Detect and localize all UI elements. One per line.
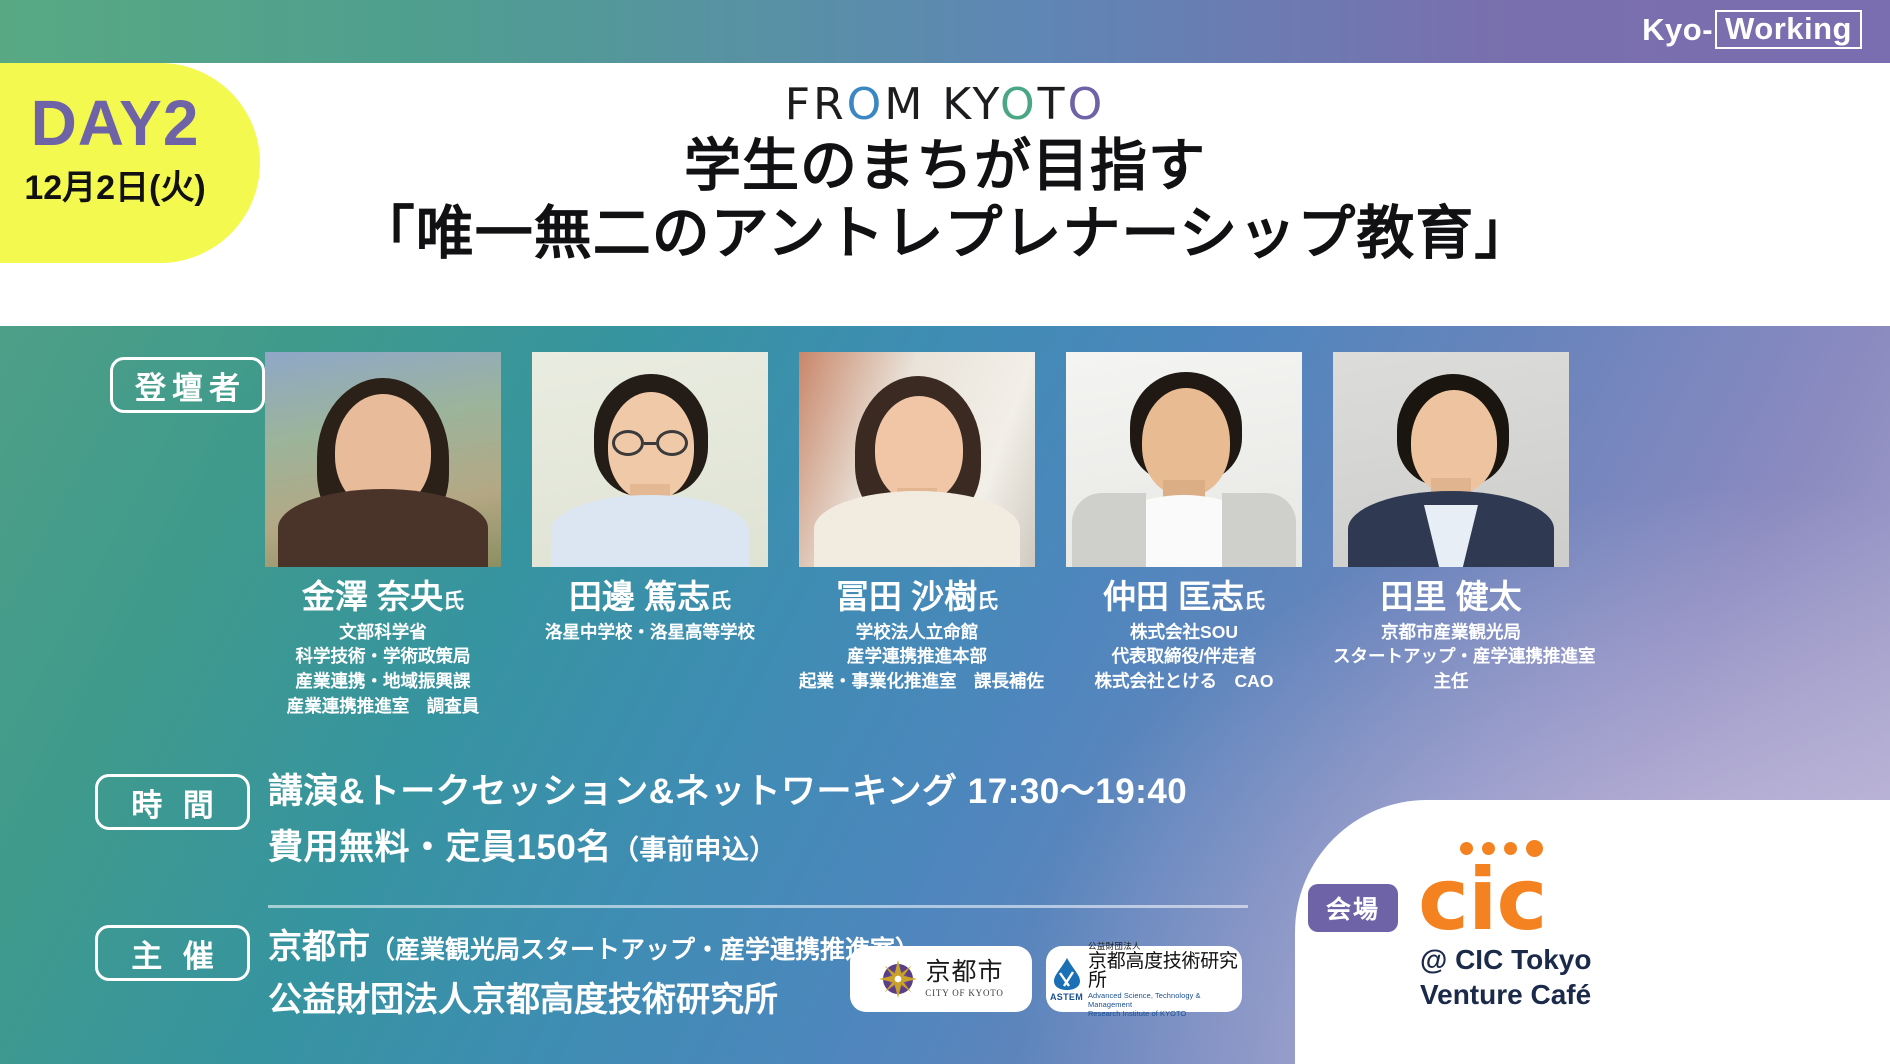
time-line-1: 講演&トークセッション&ネットワーキング 17:30〜19:40 <box>268 768 1187 815</box>
host-primary: 京都市 <box>268 928 370 966</box>
venue-line-2: Venture Café <box>1420 977 1591 1012</box>
venue-address: @ CIC Tokyo Venture Café <box>1420 942 1591 1012</box>
avatar <box>532 352 768 567</box>
avatar <box>265 352 501 567</box>
speaker-name-suffix: 氏 <box>977 590 998 613</box>
time-info: 講演&トークセッション&ネットワーキング 17:30〜19:40 費用無料・定員… <box>268 768 1187 872</box>
venue-line-1: @ CIC Tokyo <box>1420 942 1591 977</box>
avatar <box>1333 352 1569 567</box>
avatar <box>799 352 1035 567</box>
speaker-affiliation: 洛星中学校・洛星高等学校 <box>532 620 768 645</box>
speaker-card: 冨田 沙樹氏 学校法人立命館 産学連携推進本部 起業・事業化推進室 課長補佐 <box>799 352 1035 672</box>
host-label: 主 催 <box>95 925 250 981</box>
speaker-name-suffix: 氏 <box>710 590 731 613</box>
affiliation-line: 産業連携・地域振興課 <box>265 669 501 694</box>
kyo-working-boxed: Working <box>1715 10 1862 49</box>
from-kyoto-part-fr: FR <box>785 79 847 130</box>
speaker-card: 田里 健太 京都市産業観光局 スタートアップ・産学連携推進室 主任 <box>1333 352 1569 672</box>
host-department-note: （産業観光局スタートアップ・産学連携推進室） <box>370 936 920 964</box>
page-title: 学生のまちが目指す 「唯一無二のアントレプレナーシップ教育」 <box>0 133 1890 268</box>
speaker-name: 田邊 篤志氏 <box>532 580 768 615</box>
time-label: 時 間 <box>95 774 250 830</box>
title-band: FROM KYOTO 学生のまちが目指す 「唯一無二のアントレプレナーシップ教育… <box>0 63 1890 326</box>
from-kyoto-part-t: T <box>1038 79 1068 130</box>
from-kyoto-o-purple: O <box>1068 79 1106 130</box>
cic-logo: cic <box>1418 842 1546 940</box>
speaker-name-suffix: 氏 <box>1244 590 1265 613</box>
affiliation-line: 科学技術・学術政策局 <box>265 644 501 669</box>
affiliation-line: 学校法人立命館 <box>799 620 1035 645</box>
title-line-2: 「唯一無二のアントレプレナーシップ教育」 <box>0 200 1890 268</box>
affiliation-line: スタートアップ・産学連携推進室 <box>1333 644 1569 669</box>
time-line-2: 費用無料・定員150名（事前申込） <box>268 824 1187 871</box>
speaker-card: 金澤 奈央氏 文部科学省 科学技術・学術政策局 産業連携・地域振興課 産業連携推… <box>265 352 501 672</box>
host-line-2: 公益財団法人京都高度技術研究所 <box>268 978 920 1022</box>
from-kyoto-o-green: O <box>1000 79 1038 130</box>
speaker-name: 仲田 匡志氏 <box>1066 580 1302 615</box>
speaker-affiliation: 京都市産業観光局 スタートアップ・産学連携推進室 主任 <box>1333 620 1569 695</box>
astem-mark-text: ASTEM <box>1050 992 1083 1002</box>
astem-name-jp: 京都高度技術研究所 <box>1088 952 1238 992</box>
astem-name-en-line1: Advanced Science, Technology & Managemen… <box>1088 991 1238 1009</box>
kyoto-city-logo: 京都市 CITY OF KYOTO <box>850 946 1032 1012</box>
speaker-card: 田邊 篤志氏 洛星中学校・洛星高等学校 <box>532 352 768 672</box>
affiliation-line: 起業・事業化推進室 課長補佐 <box>799 669 1035 694</box>
from-kyoto-o-blue: O <box>847 79 885 130</box>
speaker-name: 冨田 沙樹氏 <box>799 580 1035 615</box>
speaker-affiliation: 文部科学省 科学技術・学術政策局 産業連携・地域振興課 産業連携推進室 調査員 <box>265 620 501 719</box>
affiliation-line: 文部科学省 <box>265 620 501 645</box>
kyo-working-logo: Kyo- Working <box>1642 10 1862 49</box>
host-line-1: 京都市（産業観光局スタートアップ・産学連携推進室） <box>268 925 920 969</box>
section-divider <box>268 905 1248 908</box>
affiliation-line: 株式会社とける CAO <box>1066 669 1302 694</box>
venue-label: 会場 <box>1308 884 1398 932</box>
top-brand-bar <box>0 0 1890 63</box>
day-date: 12月2日(火) <box>0 171 230 205</box>
affiliation-line: 代表取締役/伴走者 <box>1066 644 1302 669</box>
astem-entity-type: 公益財団法人 <box>1088 940 1238 952</box>
affiliation-line: 主任 <box>1333 669 1569 694</box>
kyoto-city-name-en: CITY OF KYOTO <box>925 988 1003 998</box>
cic-wordmark: cic <box>1418 861 1546 940</box>
speaker-name: 田里 健太 <box>1333 580 1569 615</box>
fee-capacity: 費用無料・定員150名 <box>268 828 612 867</box>
venue-badge <box>1295 800 1890 1064</box>
advance-registration-note: （事前申込） <box>612 835 777 865</box>
host-info: 京都市（産業観光局スタートアップ・産学連携推進室） 公益財団法人京都高度技術研究… <box>268 925 920 1022</box>
astem-droplet-icon <box>1052 957 1082 991</box>
from-kyoto-logo: FROM KYOTO <box>0 79 1890 131</box>
speakers-list: 金澤 奈央氏 文部科学省 科学技術・学術政策局 産業連携・地域振興課 産業連携推… <box>265 352 1855 672</box>
affiliation-line: 産業連携推進室 調査員 <box>265 694 501 719</box>
speaker-affiliation: 学校法人立命館 産学連携推進本部 起業・事業化推進室 課長補佐 <box>799 620 1035 695</box>
title-line-1: 学生のまちが目指す <box>0 133 1890 200</box>
affiliation-line: 産学連携推進本部 <box>799 644 1035 669</box>
speaker-name-suffix: 氏 <box>443 590 464 613</box>
speakers-label: 登壇者 <box>110 357 265 413</box>
affiliation-line: 京都市産業観光局 <box>1333 620 1569 645</box>
speaker-affiliation: 株式会社SOU 代表取締役/伴走者 株式会社とける CAO <box>1066 620 1302 695</box>
affiliation-line: 株式会社SOU <box>1066 620 1302 645</box>
kyo-working-prefix: Kyo- <box>1642 12 1715 48</box>
day-number: DAY2 <box>0 91 230 155</box>
day-badge: DAY2 12月2日(火) <box>0 63 260 263</box>
from-kyoto-part-m-ky: M KY <box>884 79 1000 130</box>
astem-name-en-line2: Research Institute of KYOTO <box>1088 1009 1238 1018</box>
kyoto-city-name-jp: 京都市 <box>925 960 1003 985</box>
speaker-card: 仲田 匡志氏 株式会社SOU 代表取締役/伴走者 株式会社とける CAO <box>1066 352 1302 672</box>
astem-logo: ASTEM 公益財団法人 京都高度技術研究所 Advanced Science,… <box>1046 946 1242 1012</box>
affiliation-line: 洛星中学校・洛星高等学校 <box>532 620 768 645</box>
speaker-name: 金澤 奈央氏 <box>265 580 501 615</box>
kyoto-city-emblem-icon <box>878 959 918 999</box>
avatar <box>1066 352 1302 567</box>
